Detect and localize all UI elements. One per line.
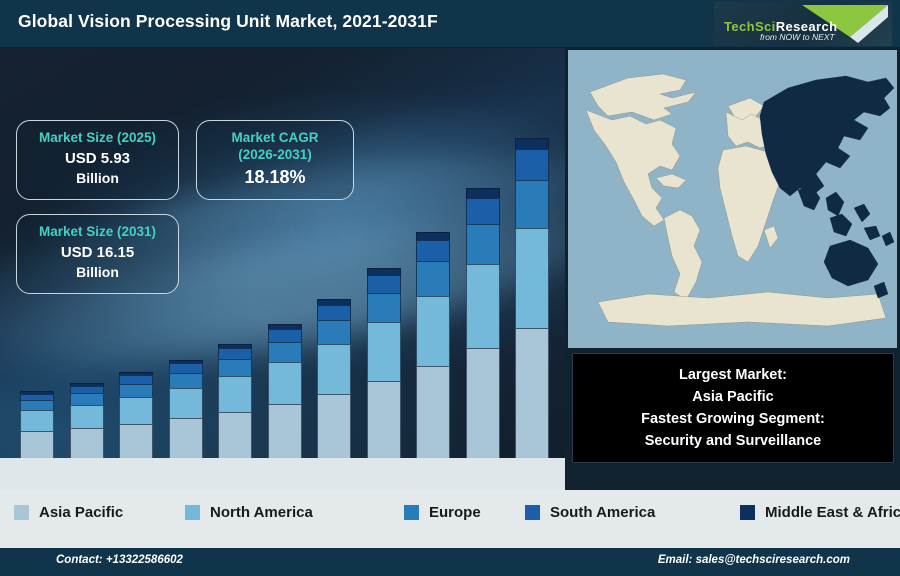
bar-segment	[367, 322, 401, 381]
bar-column: 2027F	[317, 299, 351, 458]
bar-segment	[70, 393, 104, 404]
techsci-research-logo: TechSciResearch from NOW to NEXT	[714, 2, 892, 46]
legend-swatch-icon	[740, 505, 755, 520]
bar-segment	[416, 296, 450, 366]
bar-segment	[20, 400, 54, 410]
bar-segment	[466, 188, 500, 198]
chart-panel: Market Size (2025) USD 5.93 Billion Mark…	[0, 48, 565, 490]
bar-segment	[268, 404, 302, 458]
bar-column: 2022	[70, 383, 104, 458]
bar-column: 2025	[218, 344, 252, 458]
bar-segment	[317, 320, 351, 344]
bar-segment	[466, 348, 500, 458]
page-title: Global Vision Processing Unit Market, 20…	[18, 11, 438, 32]
bar-column: 2024	[169, 360, 203, 458]
bar-segment	[268, 329, 302, 342]
bar-segment	[416, 366, 450, 458]
bar-segment	[515, 228, 549, 327]
bar-segment	[218, 376, 252, 412]
x-axis-strip	[0, 458, 565, 490]
legend-swatch-icon	[404, 505, 419, 520]
bar-column: 2023	[119, 372, 153, 458]
bar-segment	[466, 224, 500, 265]
bar-segment	[466, 198, 500, 224]
footer-email: Email: sales@techsciresearch.com	[658, 554, 850, 566]
bar-segment	[268, 342, 302, 362]
stacked-bar-plot: 202120222023202420252026E2027F2028F2029F…	[0, 48, 565, 490]
bar-column: 2026E	[268, 324, 302, 458]
bar-segment	[169, 363, 203, 373]
legend-swatch-icon	[14, 505, 29, 520]
bar-segment	[119, 384, 153, 397]
bar-segment	[218, 359, 252, 376]
header-bar: Global Vision Processing Unit Market, 20…	[0, 0, 900, 48]
bar-segment	[218, 412, 252, 458]
legend-item-south-america[interactable]: South America	[525, 504, 655, 521]
footer-contact: Contact: +13322586602	[56, 554, 183, 566]
legend-label: Middle East & Africa	[765, 504, 900, 521]
bar-segment	[367, 275, 401, 293]
bar-segment	[515, 328, 549, 458]
chart-legend: Asia PacificNorth AmericaEuropeSouth Ame…	[0, 490, 900, 548]
bar-segment	[416, 240, 450, 262]
legend-swatch-icon	[525, 505, 540, 520]
bar-segment	[218, 348, 252, 359]
bar-segment	[169, 388, 203, 419]
bar-column: 2031F	[515, 138, 549, 458]
right-panel: Largest Market: Asia Pacific Fastest Gro…	[565, 48, 900, 490]
bar-segment	[367, 293, 401, 322]
bar-segment	[268, 362, 302, 404]
bar-segment	[317, 394, 351, 458]
highlight-line: Asia Pacific	[692, 386, 773, 408]
logo-tagline: from NOW to NEXT	[760, 32, 835, 42]
legend-item-europe[interactable]: Europe	[404, 504, 481, 521]
highlight-line: Largest Market:	[679, 364, 787, 386]
bar-segment	[466, 264, 500, 348]
bar-column: 2021	[20, 391, 54, 458]
infographic-page: Global Vision Processing Unit Market, 20…	[0, 0, 900, 576]
bar-column: 2028F	[367, 268, 401, 458]
bar-segment	[416, 261, 450, 295]
bar-segment	[169, 418, 203, 458]
footer-bar: Contact: +13322586602 Email: sales@techs…	[0, 548, 900, 576]
bar-segment	[70, 386, 104, 393]
legend-label: Asia Pacific	[39, 504, 123, 521]
bar-segment	[317, 344, 351, 394]
bar-segment	[367, 268, 401, 275]
bar-column: 2030F	[466, 188, 500, 458]
legend-item-north-america[interactable]: North America	[185, 504, 313, 521]
bar-segment	[70, 428, 104, 458]
bar-segment	[20, 431, 54, 458]
bar-segment	[20, 410, 54, 431]
legend-item-middle-east-africa[interactable]: Middle East & Africa	[740, 504, 900, 521]
legend-label: North America	[210, 504, 313, 521]
bar-segment	[515, 138, 549, 149]
bar-segment	[119, 424, 153, 458]
bar-segment	[70, 405, 104, 428]
bar-segment	[119, 397, 153, 424]
legend-label: Europe	[429, 504, 481, 521]
legend-swatch-icon	[185, 505, 200, 520]
highlight-line: Fastest Growing Segment:	[641, 408, 825, 430]
bar-column: 2029F	[416, 232, 450, 458]
bar-segment	[367, 381, 401, 458]
bar-segment	[317, 305, 351, 320]
highlight-info-box: Largest Market: Asia Pacific Fastest Gro…	[572, 353, 894, 463]
bar-segment	[515, 180, 549, 228]
legend-label: South America	[550, 504, 655, 521]
world-map-svg	[568, 50, 897, 348]
world-map	[568, 50, 897, 348]
highlight-line: Security and Surveillance	[645, 430, 822, 452]
legend-item-asia-pacific[interactable]: Asia Pacific	[14, 504, 123, 521]
bar-segment	[515, 149, 549, 180]
bar-segment	[416, 232, 450, 240]
bar-segment	[169, 373, 203, 388]
bar-segment	[119, 375, 153, 383]
